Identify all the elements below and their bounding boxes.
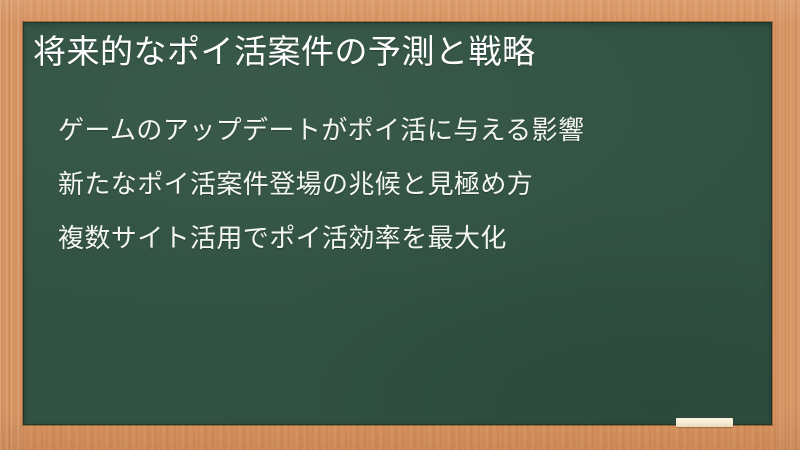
slide-title: 将来的なポイ活案件の予測と戦略	[33, 30, 753, 74]
chalkboard-slide: 将来的なポイ活案件の予測と戦略 ゲームのアップデートがポイ活に与える影響 新たな…	[0, 0, 800, 450]
slide-content: 将来的なポイ活案件の予測と戦略 ゲームのアップデートがポイ活に与える影響 新たな…	[23, 22, 772, 425]
chalkboard-surface: 将来的なポイ活案件の予測と戦略 ゲームのアップデートがポイ活に与える影響 新たな…	[23, 22, 772, 425]
frame-rail-right	[776, 0, 800, 450]
bullet-item-1: ゲームのアップデートがポイ活に与える影響	[58, 104, 758, 158]
bullet-item-2: 新たなポイ活案件登場の兆候と見極め方	[58, 158, 758, 212]
bullet-list: ゲームのアップデートがポイ活に与える影響 新たなポイ活案件登場の兆候と見極め方 …	[58, 104, 758, 266]
frame-rail-left	[0, 0, 24, 450]
chalk-stick	[676, 418, 733, 427]
bullet-item-3: 複数サイト活用でポイ活効率を最大化	[58, 212, 758, 266]
